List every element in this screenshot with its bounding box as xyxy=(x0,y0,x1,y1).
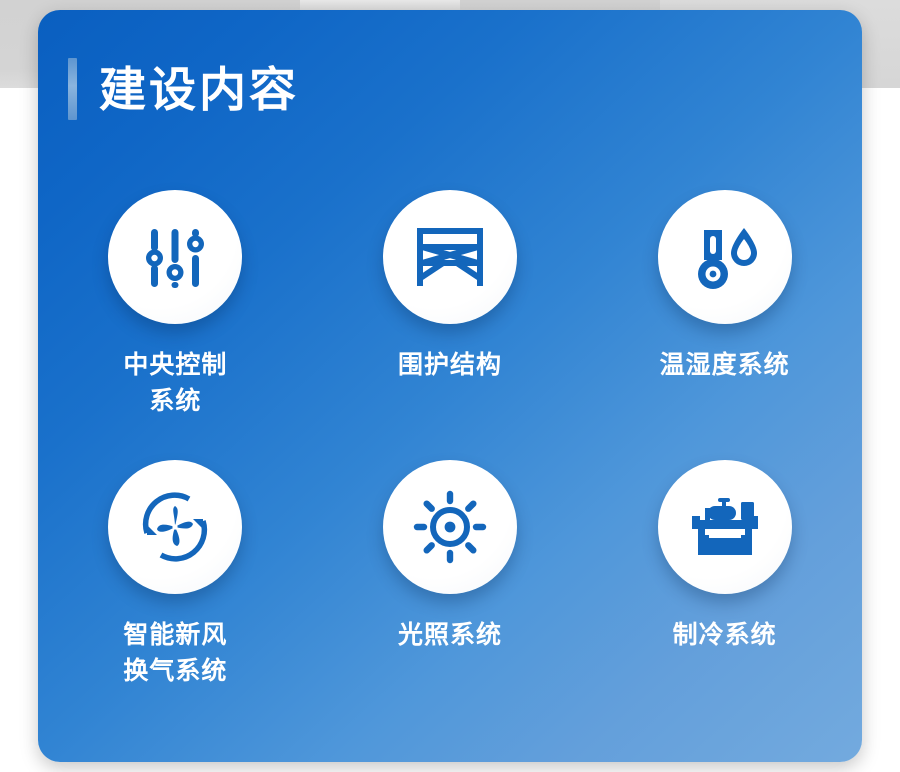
feature-icon-bubble xyxy=(108,190,242,324)
feature-label: 温湿度系统 xyxy=(660,348,790,384)
feature-label: 光照系统 xyxy=(398,618,502,654)
sun-light-icon xyxy=(413,490,487,564)
header-accent-bar xyxy=(68,58,77,120)
feature-item-fresh-air-ventilation[interactable]: 智能新风 换气系统 xyxy=(38,460,313,730)
content-card: 建设内容 xyxy=(38,10,862,762)
feature-icon-bubble xyxy=(383,190,517,324)
feature-item-central-control[interactable]: 中央控制 系统 xyxy=(38,190,313,460)
feature-label: 中央控制 系统 xyxy=(123,348,227,419)
page-header: 建设内容 xyxy=(68,58,299,120)
feature-label: 围护结构 xyxy=(398,348,502,384)
feature-label: 智能新风 换气系统 xyxy=(123,618,227,689)
page-title: 建设内容 xyxy=(99,66,299,113)
feature-item-enclosure-structure[interactable]: 围护结构 xyxy=(313,190,588,460)
feature-label: 制冷系统 xyxy=(673,618,777,654)
feature-item-refrigeration[interactable]: 制冷系统 xyxy=(587,460,862,730)
sliders-icon xyxy=(139,221,211,293)
feature-item-temperature-humidity[interactable]: 温湿度系统 xyxy=(587,190,862,460)
feature-grid: 中央控制 系统 xyxy=(38,190,862,730)
feature-icon-bubble xyxy=(383,460,517,594)
feature-icon-bubble xyxy=(658,460,792,594)
thermometer-humidity-icon xyxy=(688,222,762,292)
feature-item-lighting[interactable]: 光照系统 xyxy=(313,460,588,730)
refrigeration-machine-icon xyxy=(686,494,764,560)
feature-icon-bubble xyxy=(658,190,792,324)
feature-icon-bubble xyxy=(108,460,242,594)
fan-ventilation-icon xyxy=(137,489,213,565)
enclosure-structure-icon xyxy=(413,225,487,289)
